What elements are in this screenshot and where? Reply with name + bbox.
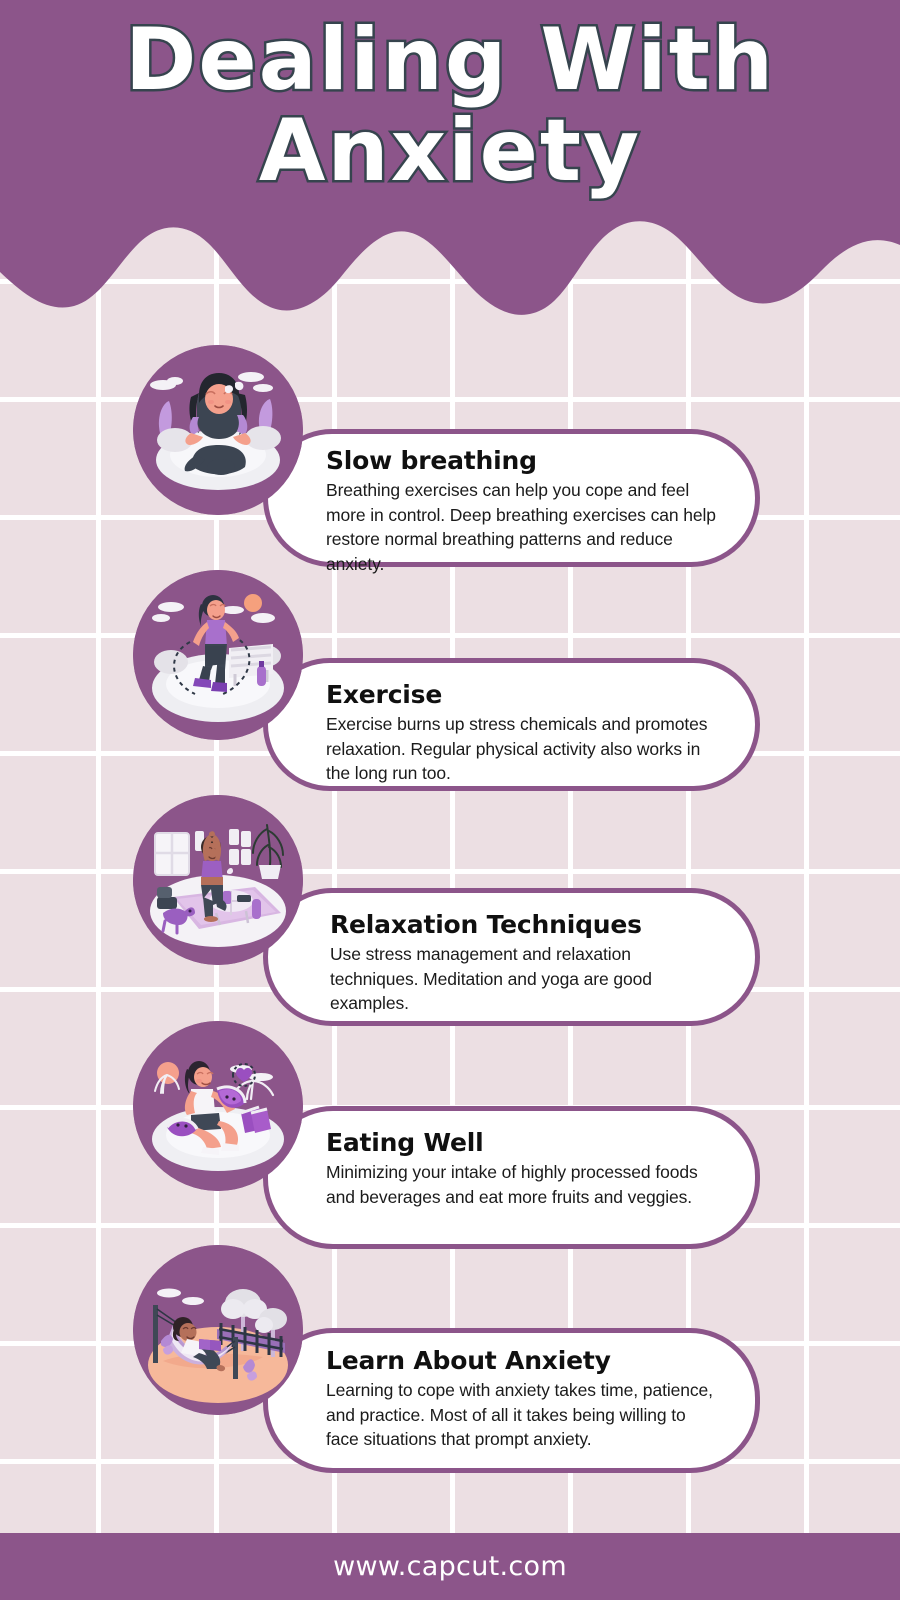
tip-title: Eating Well (326, 1129, 723, 1158)
illustration-woman-yoga-tree-pose (133, 795, 303, 965)
footer-website-link[interactable]: www.capcut.com (333, 1551, 567, 1582)
title-line-2: Anxiety (259, 109, 641, 194)
tip-card-relaxation-techniques[interactable]: Relaxation Techniques Use stress managem… (263, 888, 760, 1026)
illustration-woman-reading-in-hammock (133, 1245, 303, 1415)
tip-title: Learn About Anxiety (326, 1347, 723, 1376)
title-line-1: Dealing With (125, 18, 775, 103)
tip-title: Slow breathing (326, 447, 723, 476)
footer-bar: www.capcut.com (0, 1533, 900, 1600)
poster-title: Dealing With Anxiety (0, 0, 900, 240)
tip-card-learn-about-anxiety[interactable]: Learn About Anxiety Learning to cope wit… (263, 1328, 760, 1473)
tip-card-exercise[interactable]: Exercise Exercise burns up stress chemic… (263, 658, 760, 791)
tip-card-slow-breathing[interactable]: Slow breathing Breathing exercises can h… (263, 429, 760, 567)
tip-title: Exercise (326, 681, 723, 710)
illustration-woman-eating-watermelon (133, 1021, 303, 1191)
tip-card-eating-well[interactable]: Eating Well Minimizing your intake of hi… (263, 1106, 760, 1249)
tip-body: Exercise burns up stress chemicals and p… (326, 712, 723, 787)
tip-body: Minimizing your intake of highly process… (326, 1160, 723, 1210)
tip-title: Relaxation Techniques (330, 911, 723, 940)
tip-body: Use stress management and relaxation tec… (330, 942, 723, 1017)
illustration-woman-jumping-rope (133, 570, 303, 740)
tip-body: Learning to cope with anxiety takes time… (326, 1378, 723, 1453)
tip-body: Breathing exercises can help you cope an… (326, 478, 723, 577)
infographic-poster: Dealing With Anxiety Slow breathing Brea… (0, 0, 900, 1600)
illustration-woman-meditating (133, 345, 303, 515)
